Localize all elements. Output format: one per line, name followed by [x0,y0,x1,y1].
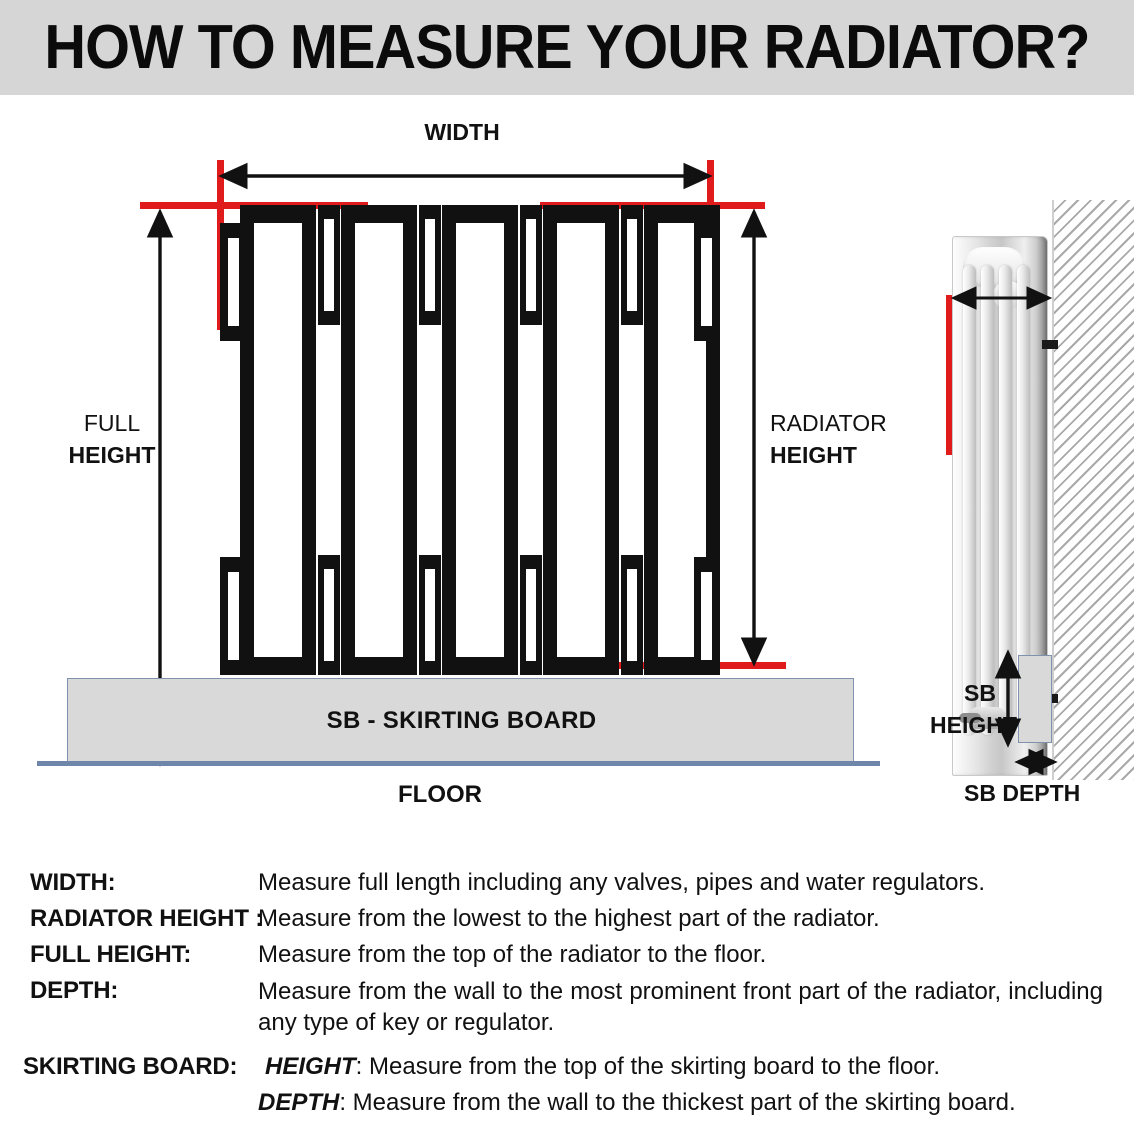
note-desc-full-height: Measure from the top of the radiator to … [258,941,766,969]
note-desc-depth: Measure from the wall to the most promin… [258,977,1103,1038]
measurement-notes: WIDTH: Measure full length including any… [0,855,1134,1134]
note-em-height: HEIGHT [265,1053,356,1080]
radiator-side-view: DEPTH SB HEIGHT SB DEPTH [946,200,1134,780]
side-view-dimension-arrows [946,200,1134,780]
note-text-height: : Measure from the top of the skirting b… [356,1053,940,1080]
note-desc-skirting-depth: DEPTH: Measure from the wall to the thic… [258,1089,1016,1117]
note-desc-width: Measure full length including any valves… [258,869,985,897]
diagram-stage: WIDTH [0,95,1134,845]
note-desc-radiator-height: Measure from the lowest to the highest p… [258,905,880,933]
note-term-radiator-height: RADIATOR HEIGHT : [30,905,263,933]
radiator-height-label-line1: RADIATOR [770,410,887,436]
full-height-label-line2: HEIGHT [40,442,184,468]
note-em-depth: DEPTH [258,1089,339,1116]
note-term-depth: DEPTH: [30,977,118,1005]
radiator-height-label-line2: HEIGHT [770,442,857,468]
floor-line [37,761,880,766]
floor-label: FLOOR [340,781,540,809]
page-title: HOW TO MEASURE YOUR RADIATOR? [40,0,1095,95]
note-desc-skirting-height: HEIGHT: Measure from the top of the skir… [265,1053,940,1081]
sb-depth-label: SB DEPTH [964,780,1080,806]
note-text-depth: : Measure from the wall to the thickest … [339,1089,1015,1116]
header-bar: HOW TO MEASURE YOUR RADIATOR? [0,0,1134,95]
note-term-full-height: FULL HEIGHT: [30,941,191,969]
skirting-board-label: SB - SKIRTING BOARD [68,679,855,763]
full-height-label-line1: FULL [48,410,176,436]
note-term-width: WIDTH: [30,869,115,897]
skirting-board-block: SB - SKIRTING BOARD [67,678,854,762]
note-term-skirting-board: SKIRTING BOARD: [23,1053,237,1081]
